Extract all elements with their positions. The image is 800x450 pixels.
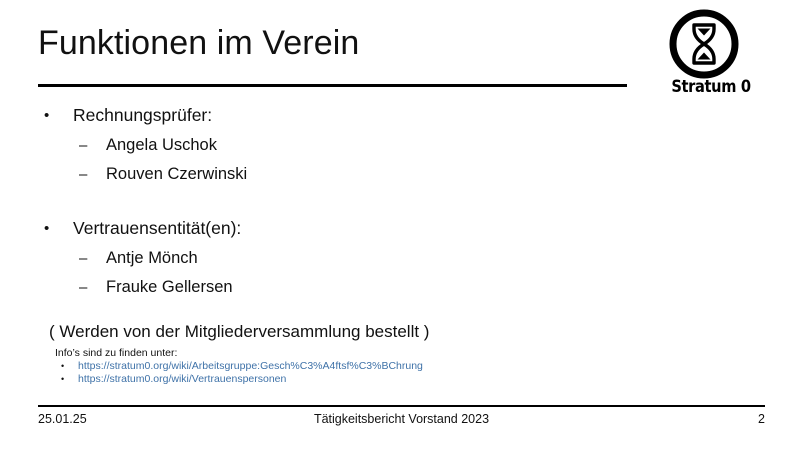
stratum0-wordmark: Stratum 0	[671, 78, 736, 97]
info-heading: Info’s sind zu finden unter:	[55, 347, 755, 360]
list-item-label: Angela Uschok	[106, 136, 217, 154]
bullet-group-heading-label: Vertrauensentität(en):	[73, 218, 241, 238]
footer-title: Tätigkeitsbericht Vorstand 2023	[38, 409, 765, 429]
slide-footer: 25.01.25 Tätigkeitsbericht Vorstand 2023…	[38, 409, 765, 429]
list-item: – Rouven Czerwinski	[0, 160, 800, 189]
title-divider	[38, 84, 627, 87]
bullet-dot-icon: •	[44, 100, 49, 131]
dash-bullet-icon: –	[79, 273, 87, 302]
dash-bullet-icon: –	[79, 244, 87, 273]
footer-page-number: 2	[758, 409, 765, 429]
list-item-label: Antje Mönch	[106, 249, 198, 267]
slide-title: Funktionen im Verein	[38, 21, 359, 65]
list-item-label: Frauke Gellersen	[106, 278, 233, 296]
stratum0-logo: Stratum 0	[666, 8, 742, 106]
slide-body: • Rechnungsprüfer: – Angela Uschok – Rou…	[0, 100, 800, 345]
dash-bullet-icon: –	[79, 131, 87, 160]
group-spacer	[0, 189, 800, 213]
bullet-group-heading: • Vertrauensentität(en):	[0, 213, 800, 244]
list-item: – Antje Mönch	[0, 244, 800, 273]
info-block: Info’s sind zu finden unter: • https://s…	[55, 347, 755, 386]
stratum0-hourglass-circle-icon	[668, 8, 740, 80]
dash-bullet-icon: –	[79, 160, 87, 189]
note-text: ( Werden von der Mitgliederversammlung b…	[0, 302, 800, 345]
bullet-group-heading-label: Rechnungsprüfer:	[73, 105, 212, 125]
bullet-dot-icon: •	[44, 213, 49, 244]
list-item: – Angela Uschok	[0, 131, 800, 160]
slide: Stratum 0 Funktionen im Verein • Rechnun…	[0, 0, 800, 450]
wiki-link-vertrauenspersonen[interactable]: https://stratum0.org/wiki/Vertrauenspers…	[78, 373, 286, 385]
bullet-dot-icon: •	[61, 360, 64, 373]
info-list-item: • https://stratum0.org/wiki/Arbeitsgrupp…	[55, 360, 755, 373]
bullet-group-heading: • Rechnungsprüfer:	[0, 100, 800, 131]
list-item: – Frauke Gellersen	[0, 273, 800, 302]
list-item-label: Rouven Czerwinski	[106, 165, 247, 183]
info-list-item: • https://stratum0.org/wiki/Vertrauenspe…	[55, 373, 755, 386]
wiki-link-geschaeftsfuehrung[interactable]: https://stratum0.org/wiki/Arbeitsgruppe:…	[78, 360, 423, 372]
bullet-dot-icon: •	[61, 373, 64, 386]
footer-divider	[38, 405, 765, 407]
